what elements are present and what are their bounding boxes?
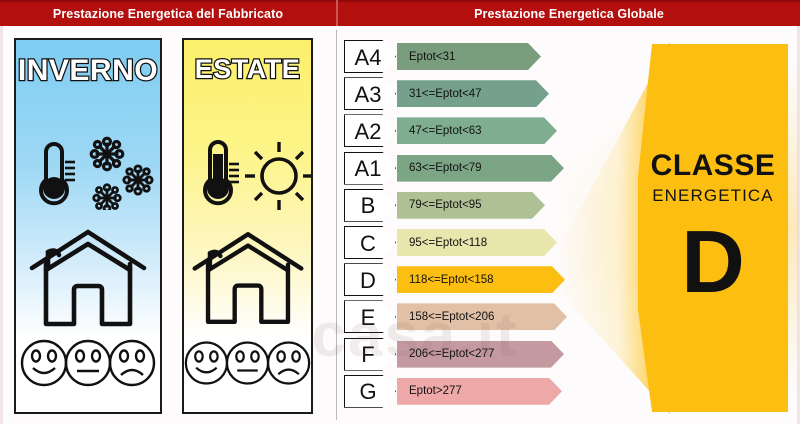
class-range-label: 63<=Eptot<79 — [397, 162, 482, 174]
class-badge-e: E — [344, 300, 396, 333]
happy-face-icon — [186, 342, 227, 383]
face-rating-group-icon — [20, 336, 156, 390]
class-letter: A2 — [349, 115, 387, 148]
class-range-label: Eptot<31 — [397, 51, 455, 63]
class-range-bar: Eptot<31 — [397, 43, 541, 70]
sun-icon — [245, 142, 313, 210]
class-range-label: 79<=Eptot<95 — [397, 199, 482, 211]
class-range-bar: 31<=Eptot<47 — [397, 80, 549, 107]
thermometer-mercury-icon — [49, 178, 59, 190]
class-range-bar: 47<=Eptot<63 — [397, 117, 557, 144]
house-icon-wrap-estate — [184, 218, 311, 338]
energy-class-row: A331<=Eptot<47 — [344, 77, 570, 110]
class-badge-c: C — [344, 226, 396, 259]
season-panel-estate: ESTATE — [182, 38, 313, 414]
energy-class-scale: A4Eptot<31A331<=Eptot<47A247<=Eptot<63A1… — [344, 40, 570, 414]
class-badge-a2: A2 — [344, 114, 396, 147]
energy-certificate: Prestazione Energetica del Fabbricato Pr… — [0, 0, 800, 426]
plate-grade-letter: D — [681, 218, 745, 306]
face-rating-group-icon — [184, 336, 311, 390]
class-range-bar: 206<=Eptot<277 — [397, 341, 564, 368]
class-range-label: 158<=Eptot<206 — [397, 311, 494, 323]
class-badge-a4: A4 — [344, 40, 396, 73]
class-range-bar: 79<=Eptot<95 — [397, 192, 545, 219]
class-badge-f: F — [344, 338, 396, 371]
snowflake-icon — [91, 138, 123, 170]
energy-class-row: B79<=Eptot<95 — [344, 189, 570, 222]
class-range-bar: 63<=Eptot<79 — [397, 155, 564, 182]
energy-class-row: A4Eptot<31 — [344, 40, 570, 73]
class-letter: G — [349, 376, 387, 409]
class-range-bar: Eptot>277 — [397, 378, 562, 405]
header-band: Prestazione Energetica del Fabbricato Pr… — [0, 0, 800, 26]
header-title-globale: Prestazione Energetica Globale — [338, 2, 800, 26]
house-outline-icon — [26, 224, 150, 332]
class-plate: CLASSE ENERGETICA D — [638, 44, 788, 412]
class-letter: D — [349, 264, 387, 297]
class-range-label: 31<=Eptot<47 — [397, 88, 482, 100]
class-letter: A4 — [349, 41, 387, 74]
rating-faces-estate — [184, 330, 311, 396]
class-letter: F — [349, 339, 387, 372]
class-letter: B — [349, 190, 387, 223]
energy-class-row: C95<=Eptot<118 — [344, 226, 570, 259]
weather-icons-inverno — [16, 132, 160, 210]
class-range-label: 206<=Eptot<277 — [397, 348, 494, 360]
season-title-estate: ESTATE — [184, 54, 311, 85]
thermometer-scale-marks-icon — [229, 164, 239, 182]
class-letter: A3 — [349, 78, 387, 111]
weather-icons-estate — [184, 132, 311, 210]
house-outline-icon — [189, 225, 307, 331]
class-range-bar: 95<=Eptot<118 — [397, 229, 557, 256]
energy-class-row: D118<=Eptot<158 — [344, 263, 570, 296]
class-range-label: Eptot>277 — [397, 385, 462, 397]
summer-weather-group-icon — [184, 132, 313, 210]
snowflake-icon — [94, 185, 121, 210]
thermometer-scale-marks-icon — [65, 162, 75, 180]
class-badge-g: G — [344, 375, 396, 408]
sad-face-icon — [268, 342, 309, 383]
class-range-label: 118<=Eptot<158 — [397, 274, 494, 286]
sad-face-icon — [110, 341, 154, 385]
season-title-inverno: INVERNO — [16, 54, 160, 88]
house-icon-wrap-inverno — [16, 218, 160, 338]
season-panel-inverno: INVERNO — [14, 38, 162, 414]
energy-class-row: F206<=Eptot<277 — [344, 338, 570, 371]
class-badge-a3: A3 — [344, 77, 396, 110]
header-divider — [336, 0, 338, 26]
class-letter: A1 — [349, 153, 387, 186]
class-range-bar: 118<=Eptot<158 — [397, 266, 565, 293]
happy-face-icon — [22, 341, 66, 385]
neutral-face-icon — [227, 342, 268, 383]
class-letter: E — [349, 301, 387, 334]
class-badge-b: B — [344, 189, 396, 222]
header-title-fabbricato: Prestazione Energetica del Fabbricato — [0, 2, 336, 26]
thermometer-mercury-icon — [213, 154, 223, 190]
neutral-face-icon — [66, 341, 110, 385]
section-divider — [336, 30, 337, 420]
class-range-label: 95<=Eptot<118 — [397, 237, 487, 249]
plate-line-energetica: ENERGETICA — [652, 187, 774, 204]
rating-faces-inverno — [16, 330, 160, 396]
plate-line-classe: CLASSE — [651, 151, 776, 181]
energy-class-row: E158<=Eptot<206 — [344, 300, 570, 333]
class-badge-a1: A1 — [344, 152, 396, 185]
energy-class-row: GEptot>277 — [344, 375, 570, 408]
frame-left-edge — [0, 26, 3, 424]
class-badge-d: D — [344, 263, 396, 296]
energy-class-row: A163<=Eptot<79 — [344, 152, 570, 185]
class-range-bar: 158<=Eptot<206 — [397, 303, 567, 330]
winter-weather-group-icon — [16, 132, 162, 210]
energy-class-row: A247<=Eptot<63 — [344, 114, 570, 147]
class-letter: C — [349, 227, 387, 260]
snowflake-icon — [124, 166, 152, 194]
class-range-label: 47<=Eptot<63 — [397, 125, 482, 137]
